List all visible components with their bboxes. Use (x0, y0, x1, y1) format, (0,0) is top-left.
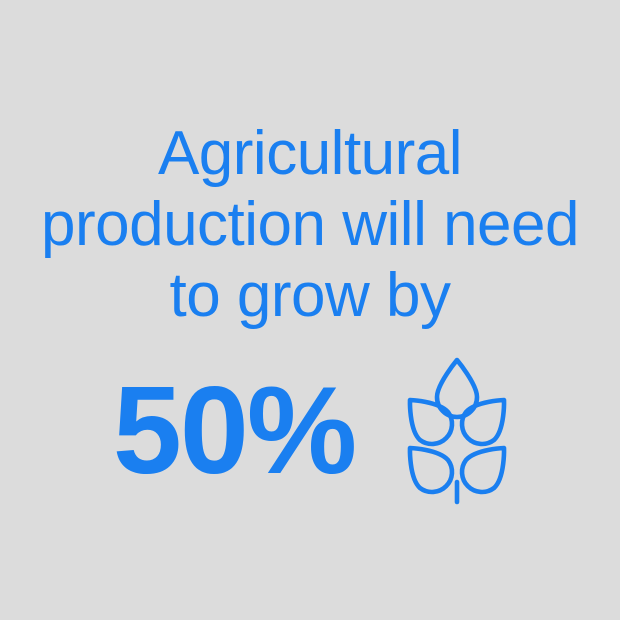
stat-row: 50% (0, 352, 620, 502)
headline-line-3: to grow by (0, 260, 620, 331)
headline-line-2: production will need (0, 189, 620, 260)
headline: Agricultural production will need to gro… (0, 118, 620, 331)
stat-value: 50% (113, 369, 355, 493)
headline-line-1: Agricultural (0, 118, 620, 189)
infographic-card: Agricultural production will need to gro… (0, 0, 620, 620)
wheat-icon (407, 354, 507, 506)
